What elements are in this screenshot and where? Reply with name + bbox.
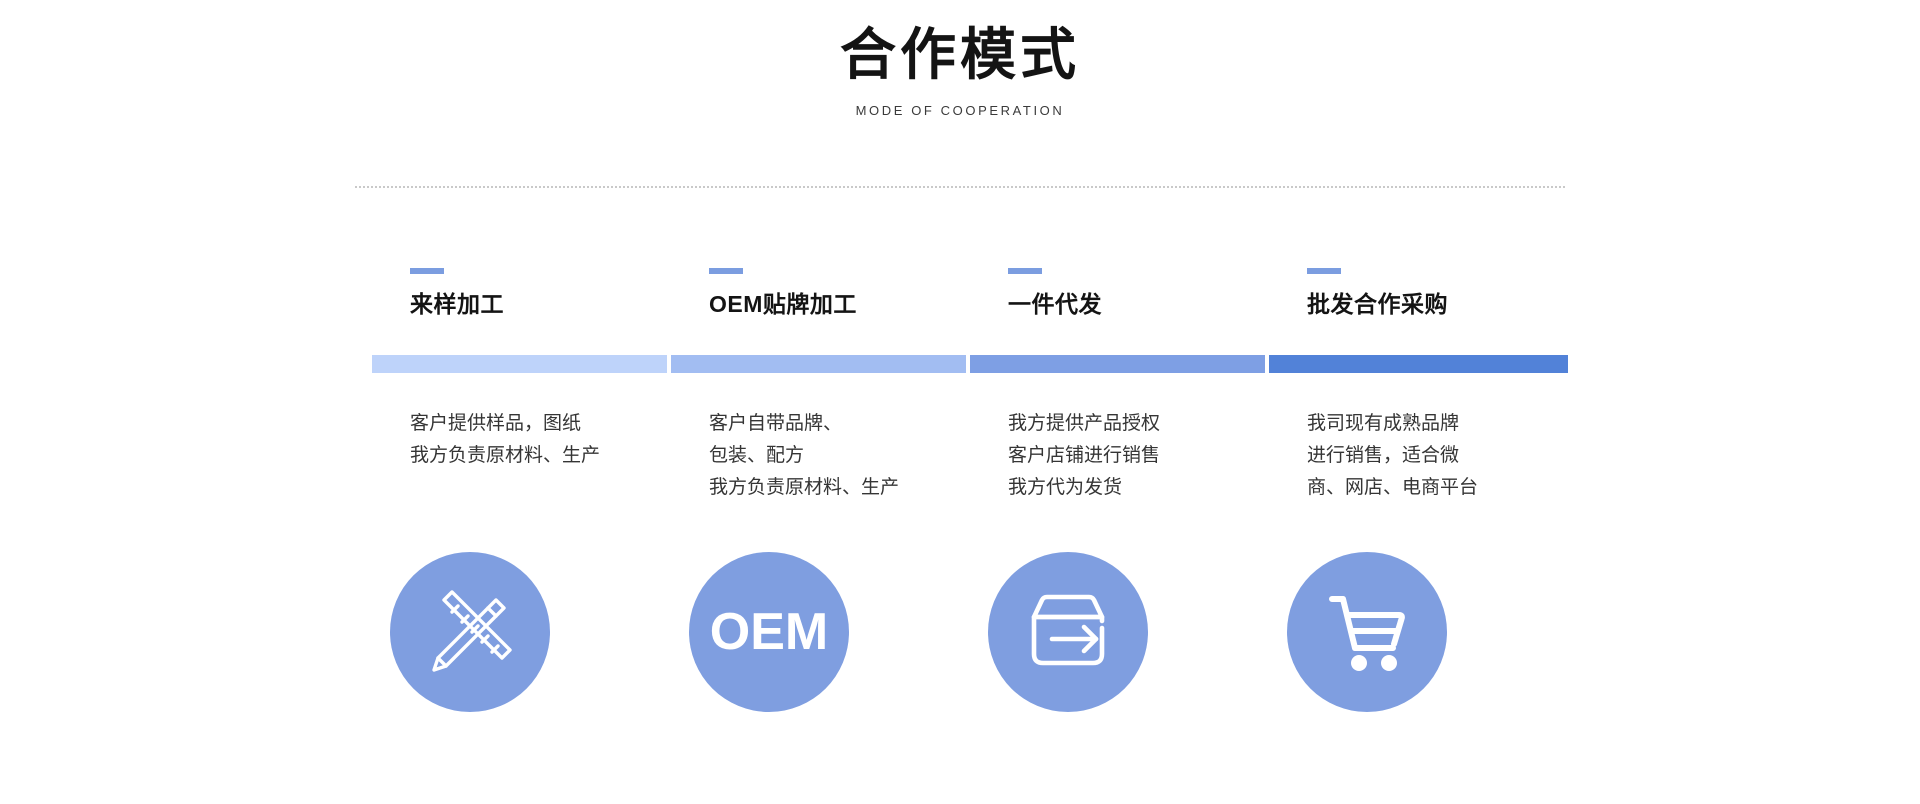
column-4: 批发合作采购 (1269, 268, 1568, 319)
description-line: 我方代为发货 (1008, 472, 1269, 504)
cooperation-mode-section: 合作模式 MODE OF COOPERATION 来样加工 OEM贴牌加工 一件… (0, 0, 1920, 804)
section-header: 合作模式 MODE OF COOPERATION (0, 0, 1920, 120)
accent-dash-icon (709, 268, 743, 274)
column-3-description: 我方提供产品授权 客户店铺进行销售 我方代为发货 (970, 408, 1269, 504)
description-line: 包装、配方 (709, 440, 970, 472)
column-4-icon-circle (1287, 552, 1447, 712)
icon-cell-1 (372, 552, 671, 712)
shopping-cart-icon (1321, 586, 1413, 678)
accent-dash-icon (410, 268, 444, 274)
bar-cell-3 (970, 355, 1269, 373)
description-line: 客户提供样品，图纸 (410, 408, 671, 440)
column-2-heading: OEM贴牌加工 (709, 289, 970, 319)
column-4-heading: 批发合作采购 (1307, 289, 1568, 319)
icon-cell-2: OEM (671, 552, 970, 712)
column-2-icon-circle: OEM (689, 552, 849, 712)
column-1: 来样加工 (372, 268, 671, 319)
bar-cell-4 (1269, 355, 1568, 373)
bar-cell-1 (372, 355, 671, 373)
accent-dash-icon (1307, 268, 1341, 274)
description-line: 商、网店、电商平台 (1307, 472, 1568, 504)
page-subtitle: MODE OF COOPERATION (0, 92, 1920, 120)
column-3-icon-circle (988, 552, 1148, 712)
column-icons-row: OEM (372, 552, 1568, 712)
column-2: OEM贴牌加工 (671, 268, 970, 319)
icon-cell-4 (1269, 552, 1568, 712)
description-line: 我司现有成熟品牌 (1307, 408, 1568, 440)
progress-bar-2 (671, 355, 966, 373)
bar-cell-2 (671, 355, 970, 373)
column-headings-row: 来样加工 OEM贴牌加工 一件代发 批发合作采购 (372, 268, 1568, 319)
progress-bar-4 (1269, 355, 1568, 373)
column-4-description: 我司现有成熟品牌 进行销售，适合微 商、网店、电商平台 (1269, 408, 1568, 504)
column-1-icon-circle (390, 552, 550, 712)
icon-cell-3 (970, 552, 1269, 712)
description-line: 客户店铺进行销售 (1008, 440, 1269, 472)
box-arrow-out-icon (1022, 586, 1114, 678)
column-descriptions-row: 客户提供样品，图纸 我方负责原材料、生产 客户自带品牌、 包装、配方 我方负责原… (372, 408, 1568, 504)
column-1-heading: 来样加工 (410, 289, 671, 319)
page-title: 合作模式 (0, 0, 1920, 92)
accent-dash-icon (1008, 268, 1042, 274)
column-3-heading: 一件代发 (1008, 289, 1269, 319)
description-line: 我方负责原材料、生产 (410, 440, 671, 472)
progress-bar-3 (970, 355, 1265, 373)
oem-text-icon: OEM (710, 552, 828, 712)
description-line: 我方提供产品授权 (1008, 408, 1269, 440)
progress-bars-row (372, 355, 1568, 373)
description-line: 进行销售，适合微 (1307, 440, 1568, 472)
progress-bar-1 (372, 355, 667, 373)
cart-wheel-right (1381, 655, 1397, 671)
column-1-description: 客户提供样品，图纸 我方负责原材料、生产 (372, 408, 671, 472)
description-line: 我方负责原材料、生产 (709, 472, 970, 504)
column-2-description: 客户自带品牌、 包装、配方 我方负责原材料、生产 (671, 408, 970, 504)
dotted-divider (355, 186, 1565, 189)
ruler-pencil-icon (422, 584, 518, 680)
description-line: 客户自带品牌、 (709, 408, 970, 440)
cart-wheel-left (1351, 655, 1367, 671)
column-3: 一件代发 (970, 268, 1269, 319)
